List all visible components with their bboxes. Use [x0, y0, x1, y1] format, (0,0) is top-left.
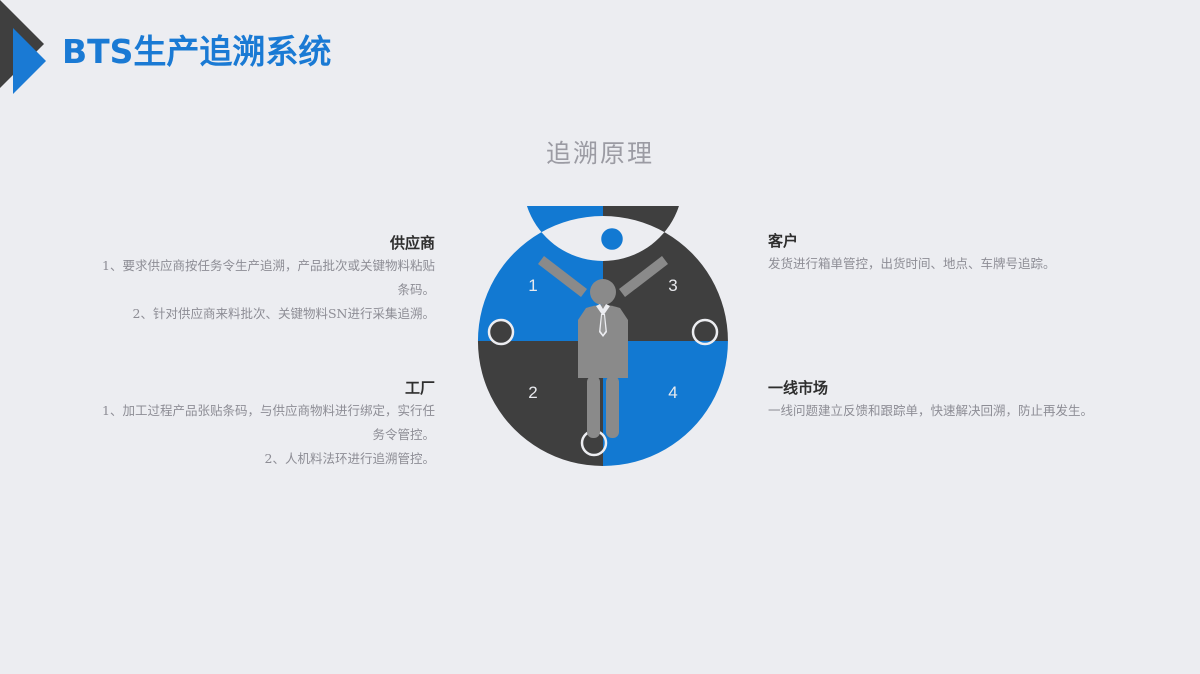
info-block-market-heading: 一线市场 — [768, 377, 1098, 399]
info-line: 1、要求供应商按任务令生产追溯，产品批次或关键物料粘贴条码。 — [90, 254, 435, 302]
info-block-customer-heading: 客户 — [768, 230, 1098, 252]
diagram-segment-3-number: 3 — [668, 276, 677, 295]
diagram-segment-1-number: 1 — [528, 276, 537, 295]
info-line: 2、人机料法环进行追溯管控。 — [90, 447, 435, 471]
info-line: 1、加工过程产品张贴条码，与供应商物料进行绑定，实行任务令管控。 — [90, 399, 435, 447]
info-block-customer: 客户 发货进行箱单管控，出货时间、地点、车牌号追踪。 — [768, 230, 1098, 276]
info-block-supplier-heading: 供应商 — [90, 232, 435, 254]
info-block-supplier: 供应商 1、要求供应商按任务令生产追溯，产品批次或关键物料粘贴条码。 2、针对供… — [90, 232, 435, 326]
info-line: 一线问题建立反馈和跟踪单，快速解决回溯，防止再发生。 — [768, 399, 1098, 423]
info-line: 发货进行箱单管控，出货时间、地点、车牌号追踪。 — [768, 252, 1098, 276]
app-header: BTS生产追溯系统 — [0, 0, 1200, 100]
app-title: BTS生产追溯系统 — [62, 25, 331, 73]
info-block-market: 一线市场 一线问题建立反馈和跟踪单，快速解决回溯，防止再发生。 — [768, 377, 1098, 423]
info-block-customer-body: 发货进行箱单管控，出货时间、地点、车牌号追踪。 — [768, 252, 1098, 276]
info-block-factory-body: 1、加工过程产品张贴条码，与供应商物料进行绑定，实行任务令管控。 2、人机料法环… — [90, 399, 435, 471]
traceability-cycle-diagram: 1 3 4 — [468, 206, 738, 476]
info-block-market-body: 一线问题建立反馈和跟踪单，快速解决回溯，防止再发生。 — [768, 399, 1098, 423]
diagram-segment-4-number: 4 — [668, 383, 677, 402]
diagram-segment-2-number: 2 — [528, 383, 537, 402]
logo-arrow-icon — [0, 0, 70, 100]
info-block-factory-heading: 工厂 — [90, 377, 435, 399]
info-block-supplier-body: 1、要求供应商按任务令生产追溯，产品批次或关键物料粘贴条码。 2、针对供应商来料… — [90, 254, 435, 326]
info-line: 2、针对供应商来料批次、关键物料SN进行采集追溯。 — [90, 302, 435, 326]
info-block-factory: 工厂 1、加工过程产品张贴条码，与供应商物料进行绑定，实行任务令管控。 2、人机… — [90, 377, 435, 471]
page-title: 追溯原理 — [0, 134, 1200, 170]
